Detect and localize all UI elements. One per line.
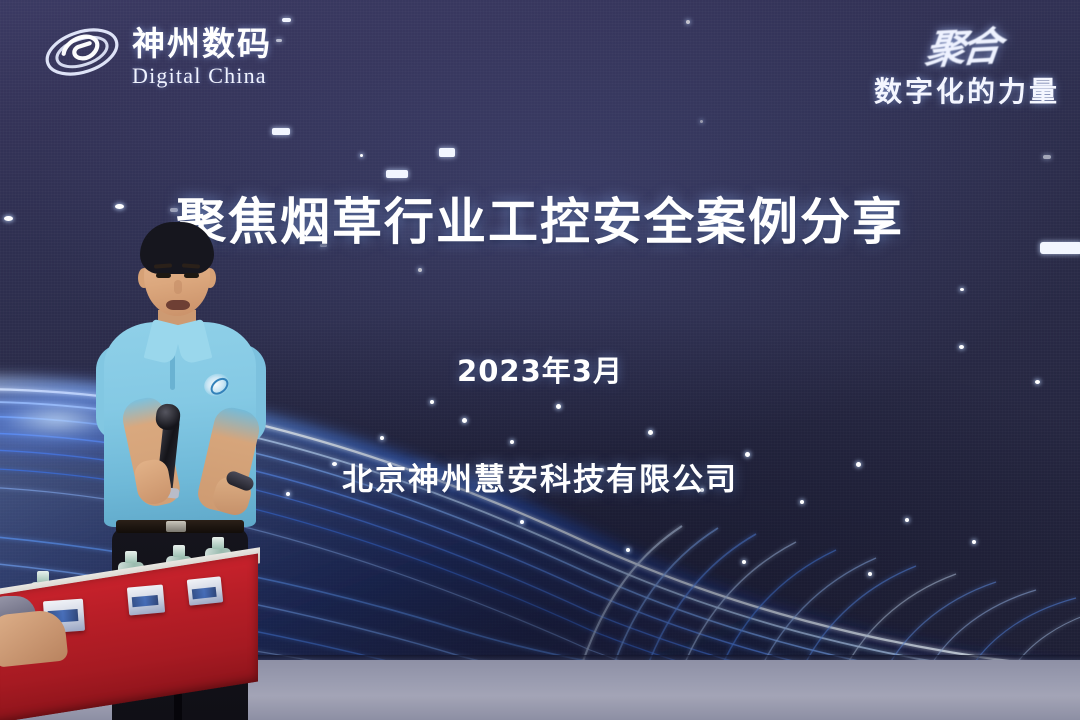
- digital-china-logo: 神州数码 Digital China: [42, 18, 272, 91]
- brand-name-cn: 神州数码: [132, 27, 272, 60]
- name-card-text: [192, 587, 217, 599]
- name-card: [127, 584, 165, 615]
- conference-photo: 神州数码 Digital China 聚合 数字化的力量 聚焦烟草行业工控安全案…: [0, 0, 1080, 720]
- presenter-nose: [174, 280, 182, 294]
- presenter-eye-right: [184, 273, 199, 278]
- brand-name-en: Digital China: [132, 65, 272, 87]
- presenter-hair: [140, 222, 214, 274]
- presenter-mouth: [166, 300, 190, 310]
- presenter-eye-left: [156, 273, 171, 278]
- event-calligraphy: 聚合: [923, 14, 1002, 76]
- digital-china-swirl-icon: [42, 18, 122, 91]
- name-card-text: [132, 595, 159, 607]
- event-tagline: 数字化的力量: [800, 70, 1060, 110]
- event-logo: 聚合 数字化的力量: [800, 16, 1060, 110]
- presenter-belt-buckle: [166, 521, 186, 532]
- name-card: [187, 576, 224, 605]
- digital-china-wordmark: 神州数码 Digital China: [132, 23, 272, 87]
